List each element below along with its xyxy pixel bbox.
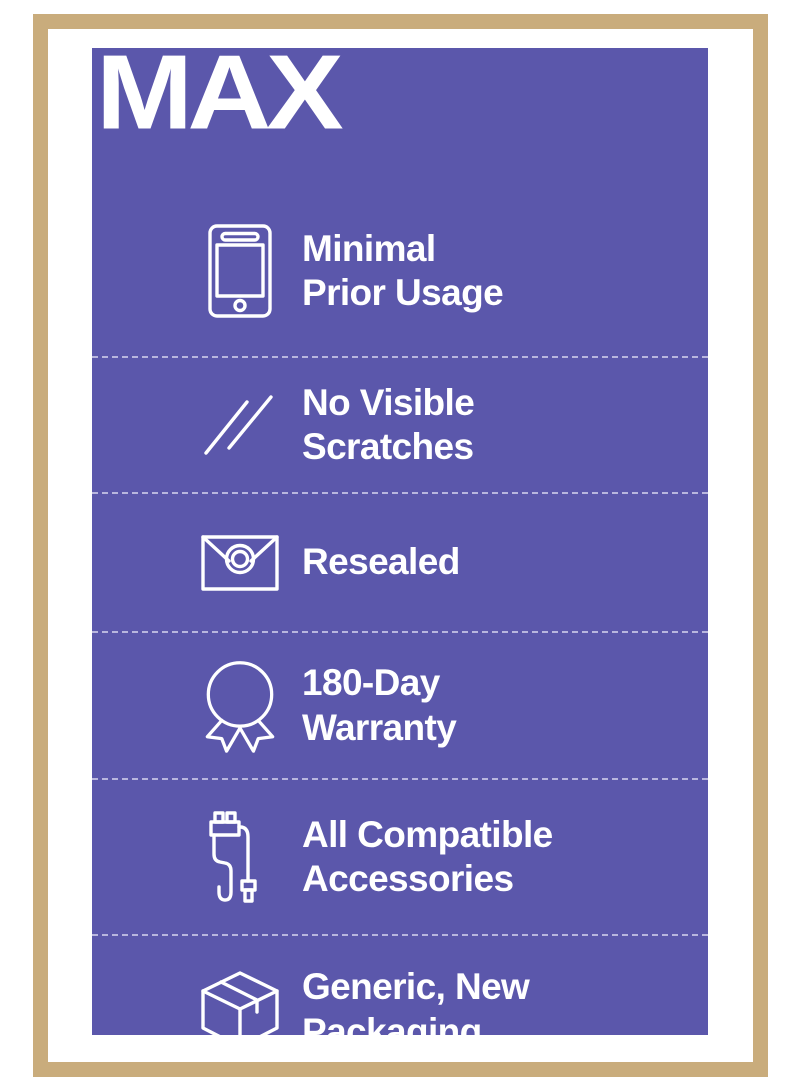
package-box-icon bbox=[192, 970, 288, 1036]
feature-row-resealed: Resealed bbox=[92, 492, 708, 631]
feature-label: Minimal Prior Usage bbox=[302, 227, 503, 315]
feature-row-warranty: 180-Day Warranty bbox=[92, 631, 708, 778]
award-ribbon-icon bbox=[192, 656, 288, 756]
feature-label: Generic, New Packaging bbox=[302, 965, 529, 1035]
sealed-envelope-icon bbox=[192, 535, 288, 591]
scratches-icon bbox=[192, 392, 288, 458]
feature-label: No Visible Scratches bbox=[302, 381, 474, 469]
usb-cable-icon bbox=[192, 809, 288, 905]
brand-title: MAX bbox=[96, 48, 338, 146]
condition-panel: MAX Minimal Prior Usage bbox=[92, 48, 708, 1035]
feature-label: All Compatible Accessories bbox=[302, 813, 553, 901]
smartphone-icon bbox=[192, 224, 288, 318]
product-condition-infographic: MAX Minimal Prior Usage bbox=[0, 0, 800, 1091]
feature-row-accessories: All Compatible Accessories bbox=[92, 778, 708, 934]
feature-list: Minimal Prior Usage No Visible Scratches bbox=[92, 186, 708, 1035]
feature-label: 180-Day Warranty bbox=[302, 661, 456, 749]
feature-row-no-visible-scratches: No Visible Scratches bbox=[92, 356, 708, 492]
feature-label: Resealed bbox=[302, 540, 460, 584]
feature-row-packaging: Generic, New Packaging bbox=[92, 934, 708, 1035]
feature-row-minimal-prior-usage: Minimal Prior Usage bbox=[92, 186, 708, 356]
